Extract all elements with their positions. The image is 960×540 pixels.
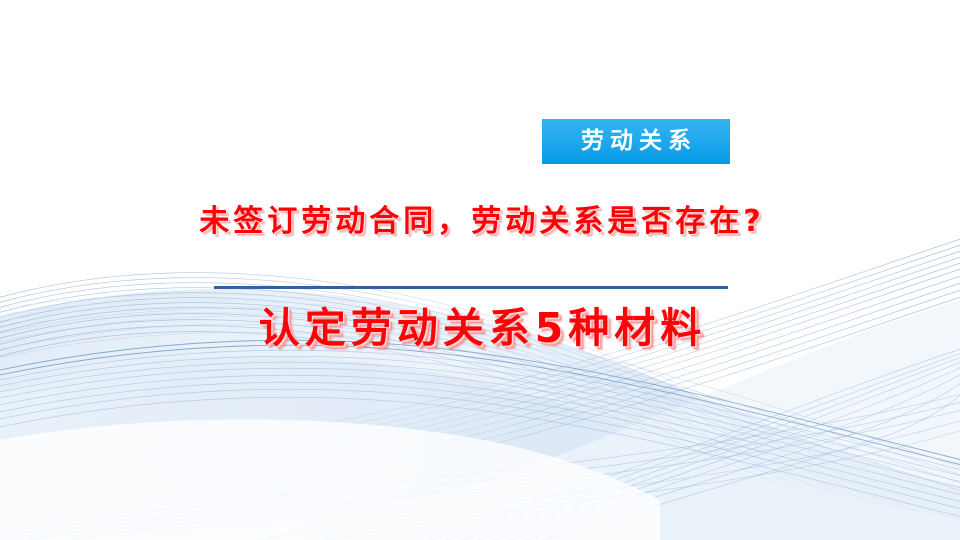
wave-lines-right-arc	[0, 236, 960, 528]
presentation-slide: 劳动关系 未签订劳动合同，劳动关系是否存在? 认定劳动关系5种材料	[0, 0, 960, 540]
wave-light-pocket	[0, 419, 660, 540]
slide-subtitle-question: 未签订劳动合同，劳动关系是否存在?	[0, 207, 960, 237]
section-badge: 劳动关系	[542, 119, 730, 164]
section-badge-label: 劳动关系	[575, 130, 697, 153]
wave-lines-sweep-b	[0, 350, 960, 519]
wave-lines-dense-cluster	[430, 346, 960, 540]
title-divider	[214, 286, 728, 289]
wave-lines-bottom-crest	[0, 392, 960, 540]
wave-lines-edge-dark	[0, 340, 960, 467]
wave-background-decoration	[0, 0, 960, 540]
slide-main-title: 认定劳动关系5种材料	[0, 308, 960, 349]
